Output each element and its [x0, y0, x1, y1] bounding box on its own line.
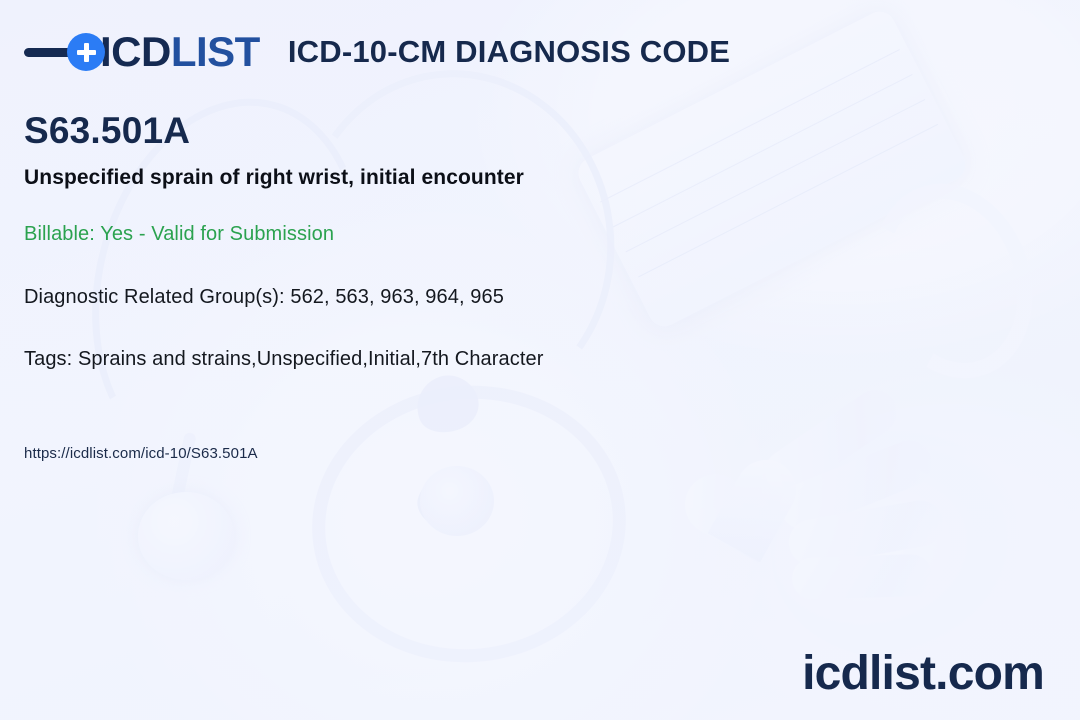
logo-text-icd: ICD: [100, 31, 171, 73]
diagnosis-code: S63.501A: [24, 112, 190, 151]
plus-circle-icon: [67, 33, 105, 71]
icd-code-card: ICD LIST ICD-10-CM DIAGNOSIS CODE S63.50…: [0, 0, 1080, 720]
diagnostic-related-groups: Diagnostic Related Group(s): 562, 563, 9…: [24, 286, 504, 309]
page-title: ICD-10-CM DIAGNOSIS CODE: [288, 34, 730, 70]
billable-status: Billable: Yes - Valid for Submission: [24, 223, 334, 246]
source-url[interactable]: https://icdlist.com/icd-10/S63.501A: [24, 445, 258, 462]
icdlist-logo[interactable]: ICD LIST: [24, 31, 260, 73]
tags-list: Tags: Sprains and strains,Unspecified,In…: [24, 348, 544, 371]
header: ICD LIST ICD-10-CM DIAGNOSIS CODE: [24, 26, 730, 78]
logo-text-list: LIST: [171, 31, 260, 73]
card-content: ICD LIST ICD-10-CM DIAGNOSIS CODE S63.50…: [0, 0, 1080, 720]
diagnosis-description: Unspecified sprain of right wrist, initi…: [24, 166, 524, 190]
site-watermark: icdlist.com: [802, 650, 1044, 698]
